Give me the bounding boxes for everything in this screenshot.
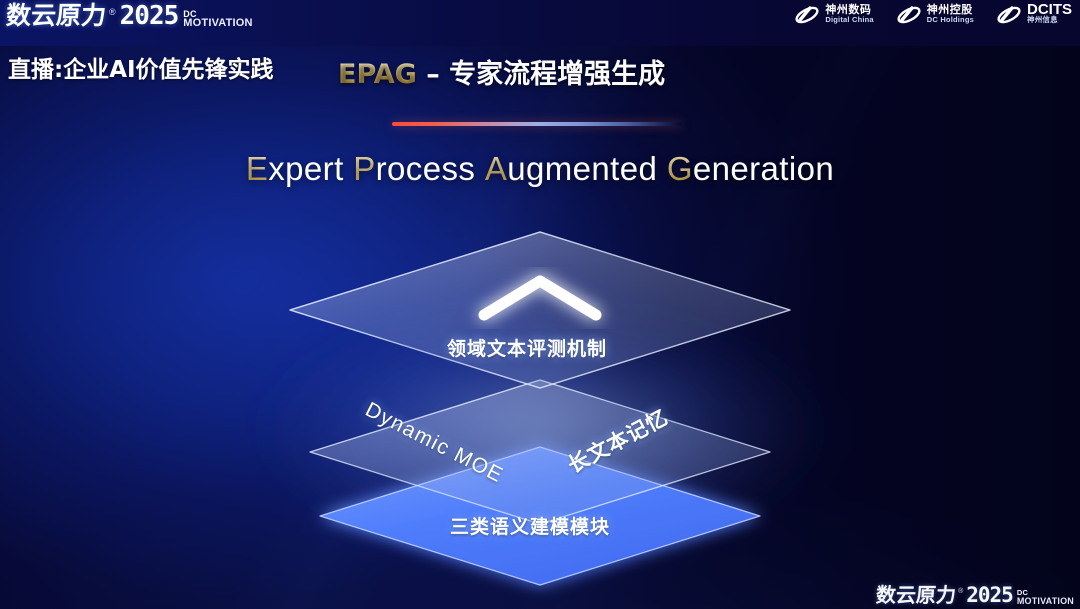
swoosh-icon xyxy=(896,4,922,26)
brand-watermark-bottom-right: 数云原力 ® 2025 DC MOTIVATION xyxy=(876,584,1074,607)
brand-registered-mark: ® xyxy=(109,5,116,19)
brand-motivation-label: MOTIVATION xyxy=(183,19,252,28)
slide-title-separator: – xyxy=(417,59,449,90)
eng-word-0-cap: E xyxy=(246,150,268,187)
brand-dc-motivation: DC MOTIVATION xyxy=(183,10,252,28)
slide-title-chinese: 专家流程增强生成 xyxy=(449,59,665,90)
logo-dc-holdings-cn: 神州控股 xyxy=(927,5,974,15)
watermark-brand-cn: 数云原力 xyxy=(875,584,957,607)
watermark-motivation-label: MOTIVATION xyxy=(1017,597,1074,605)
english-subtitle: Expert Process Augmented Generation xyxy=(0,150,1080,188)
swoosh-icon xyxy=(794,4,820,26)
slide-title-acronym: EPAG xyxy=(338,59,417,90)
logo-dcits-cn: 神州信息 xyxy=(1027,15,1072,25)
eng-word-2-rest: ugmented xyxy=(507,150,657,187)
logo-dc-holdings-en: DC Holdings xyxy=(927,15,974,25)
slide-canvas: 数云原力 ® 2025 DC MOTIVATION 神州数码 Digital C… xyxy=(0,0,1080,609)
eng-word-1-cap: P xyxy=(353,150,375,187)
partner-logo-group: 神州数码 Digital China 神州控股 DC Holdings xyxy=(794,4,1072,26)
watermark-dc-motivation: DC MOTIVATION xyxy=(1017,589,1074,605)
live-stream-label: 直播:企业AI价值先锋实践 xyxy=(8,50,274,84)
logo-digital-china-en: Digital China xyxy=(825,15,873,25)
watermark-year: 2025 xyxy=(966,584,1013,607)
title-divider-line xyxy=(392,122,682,126)
eng-word-3-cap: G xyxy=(667,150,693,187)
slide-title: EPAG – 专家流程增强生成 xyxy=(338,52,665,91)
logo-dc-holdings: 神州控股 DC Holdings xyxy=(896,4,974,26)
eng-word-1-rest: rocess xyxy=(376,150,476,187)
logo-digital-china-cn: 神州数码 xyxy=(825,5,873,15)
logo-dcits: DCITS 神州信息 xyxy=(996,4,1072,26)
isometric-layer-stack-diagram: 领域文本评测机制 Dynamic MOE 长文本记忆 三类语义建模模块 xyxy=(0,0,1080,609)
eng-word-0-rest: xpert xyxy=(268,150,343,187)
swoosh-icon xyxy=(996,4,1022,26)
watermark-registered-mark: ® xyxy=(958,586,963,597)
layer-bottom-label: 三类语义建模模块 xyxy=(450,512,610,539)
brand-logo-top-left: 数云原力 ® 2025 DC MOTIVATION xyxy=(6,2,253,30)
layer-top-label: 领域文本评测机制 xyxy=(447,334,607,361)
brand-name-cn: 数云原力 xyxy=(5,2,107,30)
logo-digital-china: 神州数码 Digital China xyxy=(794,4,873,26)
header-bar: 数云原力 ® 2025 DC MOTIVATION 神州数码 Digital C… xyxy=(0,0,1080,46)
eng-word-3-rest: eneration xyxy=(693,150,834,187)
eng-word-2-cap: A xyxy=(485,150,507,187)
logo-dcits-en: DCITS xyxy=(1027,5,1072,15)
brand-year: 2025 xyxy=(120,2,179,30)
